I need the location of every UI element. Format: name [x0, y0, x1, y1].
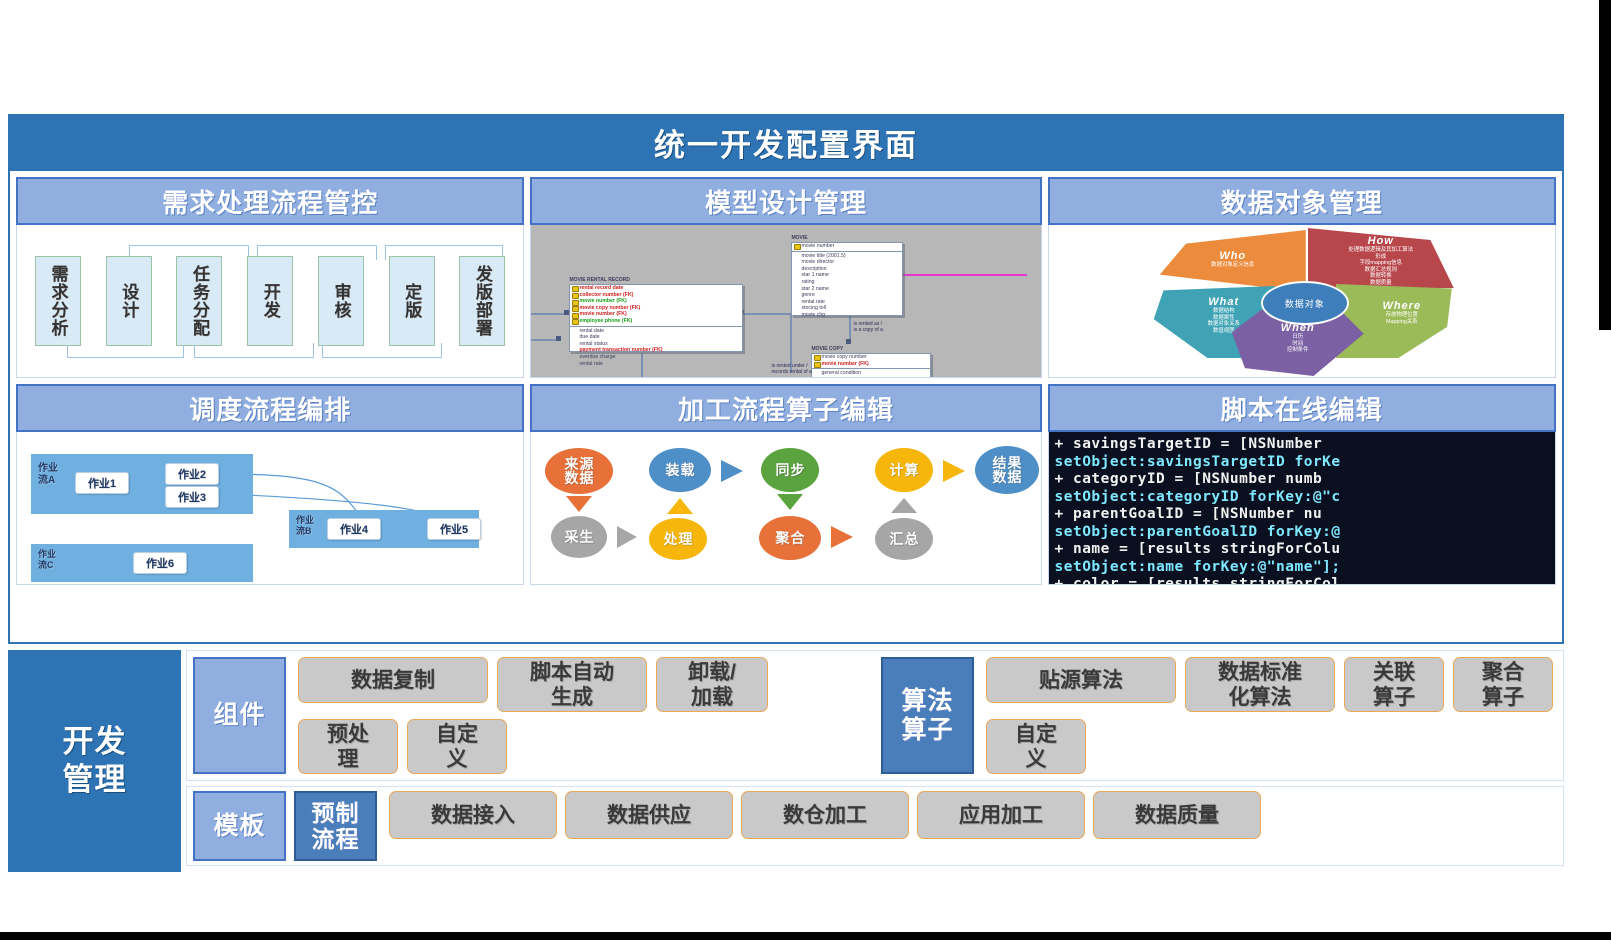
- code-line: setObject:categoryID forKey:@"c: [1055, 489, 1553, 507]
- chip-unload-load[interactable]: 卸载/ 加载: [656, 657, 768, 712]
- code-line: + color = [results stringForCol: [1055, 576, 1553, 584]
- chip-join-operator[interactable]: 关联 算子: [1344, 657, 1444, 712]
- panel-schedule[interactable]: 调度流程编排 作业 流A: [16, 384, 524, 585]
- panel-script[interactable]: 脚本在线编辑 + savingsTargetID = [NSNumber set…: [1048, 384, 1556, 585]
- category-template[interactable]: 模板: [193, 791, 286, 861]
- panel-operator[interactable]: 加工流程算子编辑 来源 数据 采生 装载 处理 同步: [530, 384, 1041, 585]
- job-flow-a[interactable]: 作业 流A: [31, 454, 253, 514]
- job-node[interactable]: 作业2: [165, 463, 219, 485]
- chip-application-processing[interactable]: 应用加工: [917, 791, 1085, 839]
- er-endpoint-dot: [556, 336, 561, 341]
- code-line: + categoryID = [NSNumber numb: [1055, 471, 1553, 489]
- requirement-step[interactable]: 需求分析: [35, 256, 81, 346]
- panel-schedule-title: 调度流程编排: [189, 390, 351, 427]
- code-line: setObject:parentGoalID forKey:@: [1055, 524, 1553, 542]
- operator-node-compute[interactable]: 计算: [875, 448, 933, 492]
- panel-requirement-header[interactable]: 需求处理流程管控: [16, 177, 524, 225]
- requirement-step[interactable]: 审核: [318, 256, 364, 346]
- er-relationship-note: is rented as / is a copy of a: [853, 321, 882, 333]
- algorithm-chip-list: 贴源算法 数据标准 化算法 关联 算子 聚合 算子 自定 义: [982, 657, 1557, 774]
- er-relationship-note: is rented under / records rental of a: [771, 363, 811, 375]
- panel-data-object[interactable]: 数据对象管理 Who 数据对象定义信息: [1048, 177, 1556, 378]
- code-line: setObject:name forKey:@"name"];: [1055, 559, 1553, 577]
- chip-standardization-algorithm[interactable]: 数据标准 化算法: [1185, 657, 1335, 712]
- chip-data-ingestion[interactable]: 数据接入: [389, 791, 557, 839]
- panel-grid: 需求处理流程管控 需求分析: [8, 171, 1564, 644]
- chip-data-quality[interactable]: 数据质量: [1093, 791, 1261, 839]
- preset-chip-list: 数据接入 数据供应 数仓加工 应用加工 数据质量: [385, 791, 1557, 861]
- panel-requirement-body: 需求分析 设计 任务分配 开发 审核 定版 发版部署: [16, 225, 524, 378]
- requirement-step[interactable]: 定版: [389, 256, 435, 346]
- panel-script-body: + savingsTargetID = [NSNumber setObject:…: [1048, 432, 1556, 585]
- operator-node-sync[interactable]: 同步: [761, 448, 819, 492]
- arrow-right-icon: [831, 526, 853, 548]
- operator-node-aggregate[interactable]: 聚合: [759, 516, 821, 560]
- bottom-edge-bar: [0, 932, 1611, 940]
- panel-requirement-title: 需求处理流程管控: [162, 183, 378, 220]
- pie-segment-how[interactable]: How 处理数据逻辑及其加工算法 形成 字段mapping信息 数据汇总规则 数…: [1308, 228, 1454, 288]
- board-title-bar: 统一开发配置界面: [8, 114, 1564, 171]
- page-title: 统一开发配置界面: [654, 120, 918, 165]
- slide-canvas: 统一开发配置界面 需求处理流程管控: [0, 0, 1611, 940]
- panel-model-design-header[interactable]: 模型设计管理: [530, 177, 1041, 225]
- requirement-flow-diagram: 需求分析 设计 任务分配 开发 审核 定版 发版部署: [17, 225, 523, 377]
- panel-data-object-body: Who 数据对象定义信息 How 处理数据逻辑及其加工算法 形成 字段mappi…: [1048, 225, 1556, 378]
- pie-container: Who 数据对象定义信息 How 处理数据逻辑及其加工算法 形成 字段mappi…: [1152, 226, 1452, 376]
- component-chip-list: 数据复制 脚本自动 生成 卸载/ 加载 预处 理 自定 义: [294, 657, 869, 774]
- unified-config-board: 统一开发配置界面 需求处理流程管控: [8, 114, 1564, 820]
- arrow-up-icon: [667, 498, 693, 514]
- panel-schedule-body: 作业 流A 作业1 作业2 作业3 作业 流B 作业4 作业5 作业 流: [16, 432, 524, 585]
- panel-data-object-title: 数据对象管理: [1221, 183, 1383, 220]
- er-diagram: MOVIE RENTAL RECORD rental record date c…: [531, 225, 1040, 377]
- er-table[interactable]: movie copy number movie number (FK) gene…: [811, 353, 931, 378]
- schedule-flow-diagram: 作业 流A 作业1 作业2 作业3 作业 流B 作业4 作业5 作业 流: [17, 432, 523, 584]
- er-table-caption: MOVIE COPY: [811, 346, 843, 352]
- panel-schedule-header[interactable]: 调度流程编排: [16, 384, 524, 432]
- er-table-caption: MOVIE: [791, 235, 807, 241]
- right-edge-bar: [1599, 0, 1611, 330]
- chip-aggregate-operator[interactable]: 聚合 算子: [1453, 657, 1553, 712]
- dev-management-label-box: 开发 管理: [8, 650, 181, 872]
- operator-node-load[interactable]: 装载: [649, 448, 711, 492]
- arrow-down-icon: [566, 496, 592, 512]
- category-components[interactable]: 组件: [193, 657, 286, 774]
- er-endpoint-dot: [846, 339, 851, 344]
- job-node[interactable]: 作业1: [75, 472, 129, 494]
- panel-model-design[interactable]: 模型设计管理: [530, 177, 1041, 378]
- panel-row-bottom: 调度流程编排 作业 流A: [16, 384, 1556, 585]
- er-table[interactable]: movie number movie title (2001.5) movie …: [791, 242, 903, 316]
- arrow-right-icon: [617, 526, 637, 548]
- er-connector: [743, 313, 791, 315]
- requirement-step[interactable]: 开发: [247, 256, 293, 346]
- arrow-right-icon: [721, 460, 743, 482]
- dev-row-templates: 模板 预制 流程 数据接入 数据供应 数仓加工 应用加工 数据质量: [186, 786, 1564, 866]
- chip-data-supply[interactable]: 数据供应: [565, 791, 733, 839]
- er-table-caption: MOVIE RENTAL RECORD: [569, 277, 629, 283]
- category-preset-flow[interactable]: 预制 流程: [294, 791, 377, 861]
- arrow-down-icon: [777, 494, 803, 510]
- panel-script-title: 脚本在线编辑: [1221, 390, 1383, 427]
- operator-node-source[interactable]: 来源 数据: [545, 448, 613, 494]
- operator-node-process[interactable]: 处理: [649, 518, 707, 560]
- chip-custom-operator[interactable]: 自定 义: [986, 719, 1086, 774]
- panel-model-design-body: MOVIE RENTAL RECORD rental record date c…: [530, 225, 1041, 378]
- development-management-section: 开发 管理 组件 数据复制 脚本自动 生成 卸载/ 加载 预处 理: [8, 650, 1564, 872]
- operator-node-collect[interactable]: 采生: [551, 516, 607, 558]
- requirement-step[interactable]: 设计: [106, 256, 152, 346]
- dev-management-content: 组件 数据复制 脚本自动 生成 卸载/ 加载 预处 理 自定 义 算法 算子: [181, 650, 1564, 872]
- er-table[interactable]: rental record date collector number (FK)…: [569, 284, 743, 352]
- code-line: + parentGoalID = [NSNumber nu: [1055, 506, 1553, 524]
- chip-custom[interactable]: 自定 义: [407, 719, 507, 774]
- operator-flow-diagram: 来源 数据 采生 装载 处理 同步 聚合: [531, 432, 1040, 584]
- job-node[interactable]: 作业4: [327, 518, 381, 540]
- requirement-step[interactable]: 任务分配: [176, 256, 222, 346]
- panel-requirement[interactable]: 需求处理流程管控 需求分析: [16, 177, 524, 378]
- chip-source-algorithm[interactable]: 贴源算法: [986, 657, 1176, 703]
- panel-operator-header[interactable]: 加工流程算子编辑: [530, 384, 1041, 432]
- code-line: setObject:savingsTargetID forKe: [1055, 454, 1553, 472]
- operator-node-summary[interactable]: 汇总: [875, 518, 933, 560]
- arrow-right-icon: [943, 460, 965, 482]
- job-node[interactable]: 作业5: [427, 518, 481, 540]
- job-node[interactable]: 作业3: [165, 486, 219, 508]
- panel-data-object-header[interactable]: 数据对象管理: [1048, 177, 1556, 225]
- code-line: + name = [results stringForColu: [1055, 541, 1553, 559]
- panel-row-top: 需求处理流程管控 需求分析: [16, 177, 1556, 378]
- chip-script-auto-generation[interactable]: 脚本自动 生成: [497, 657, 647, 712]
- panel-model-design-title: 模型设计管理: [705, 183, 867, 220]
- job-node[interactable]: 作业6: [133, 552, 187, 574]
- panel-operator-body: 来源 数据 采生 装载 处理 同步 聚合: [530, 432, 1041, 585]
- script-code-editor[interactable]: + savingsTargetID = [NSNumber setObject:…: [1049, 432, 1555, 584]
- panel-script-header[interactable]: 脚本在线编辑: [1048, 384, 1556, 432]
- category-algorithm-operators[interactable]: 算法 算子: [881, 657, 974, 774]
- code-line: + savingsTargetID = [NSNumber: [1055, 436, 1553, 454]
- data-object-pie-chart: Who 数据对象定义信息 How 处理数据逻辑及其加工算法 形成 字段mappi…: [1049, 225, 1555, 377]
- chip-preprocess[interactable]: 预处 理: [298, 719, 398, 774]
- panel-operator-title: 加工流程算子编辑: [678, 390, 894, 427]
- pie-center-label: 数据对象: [1261, 281, 1349, 325]
- component-group: 组件 数据复制 脚本自动 生成 卸载/ 加载 预处 理 自定 义: [187, 651, 875, 780]
- arrow-up-icon: [891, 498, 917, 513]
- chip-data-replication[interactable]: 数据复制: [298, 657, 488, 703]
- requirement-step[interactable]: 发版部署: [459, 256, 505, 346]
- operator-node-result[interactable]: 结果 数据: [975, 446, 1039, 494]
- dev-management-label: 开发 管理: [63, 723, 127, 799]
- algorithm-group: 算法 算子 贴源算法 数据标准 化算法 关联 算子 聚合 算子 自定 义: [875, 651, 1563, 780]
- dev-row-components: 组件 数据复制 脚本自动 生成 卸载/ 加载 预处 理 自定 义 算法 算子: [186, 650, 1564, 781]
- template-group: 模板 预制 流程 数据接入 数据供应 数仓加工 应用加工 数据质量: [187, 787, 1563, 865]
- pie-segment-where[interactable]: Where 存放物理位置 Mapping关系: [1336, 284, 1452, 358]
- chip-warehouse-processing[interactable]: 数仓加工: [741, 791, 909, 839]
